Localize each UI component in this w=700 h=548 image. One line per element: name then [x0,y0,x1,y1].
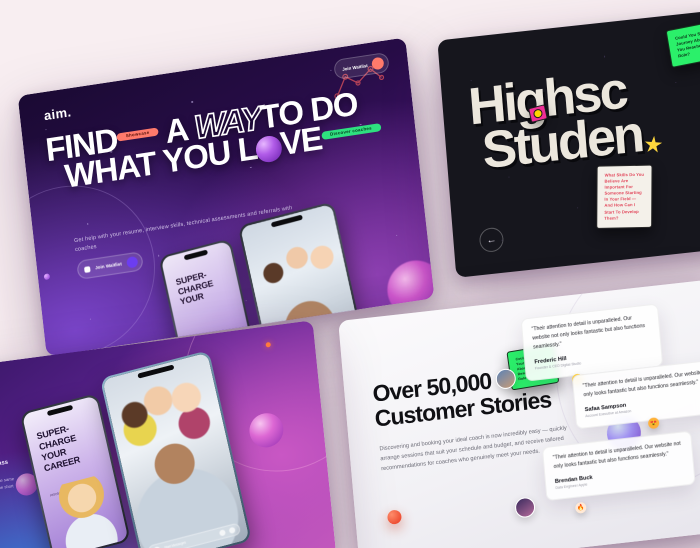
dark-headline: Highsc Studen [467,67,644,175]
showcase-stage: aim. FINDShowcase A WAYTO DO WHAT YOU LV… [0,0,700,548]
phone-screen-title: SUPER-CHARGE YOUR [175,262,238,306]
pill-badge-showcase[interactable]: Showcase [117,128,159,142]
arrow-left-icon: ← [486,234,497,246]
pill-badge-discover[interactable]: Discover coaches [321,123,381,140]
filter-icon[interactable] [228,527,235,534]
phone-notch [47,404,73,415]
reaction-emoji[interactable]: 🔥 [575,502,587,514]
hero-cta-label: Join Waitlist [95,261,122,270]
slide-customer-stories[interactable]: Over 50,000 Customer Stories Discovering… [338,280,700,548]
headline-ve: VE [278,119,323,162]
arrow-circle-icon [126,256,138,269]
testimonial-quote: "Their attention to detail is unparallel… [531,313,651,353]
smiley-face-icon [533,108,544,119]
phones-left-title: The Job Class [0,460,8,471]
info-icon[interactable] [219,530,226,537]
phone-screen-title: SUPER-CHARGE YOUR CAREER [36,416,106,474]
badge-dot-icon [371,57,384,71]
avatar [514,496,536,518]
phone-notch [184,249,208,260]
slide-app-phones[interactable]: The Job Class will suit career the same … [0,320,336,548]
slide-highschool-students[interactable]: Highsc Studen Could You Share Your Journ… [437,8,700,278]
red-dot-decoration [387,509,402,525]
badge-label: Join Waitlist [342,63,368,72]
sticky-note-question-skills[interactable]: What Skills Do You Believe Are Important… [596,165,652,229]
slide-hero-landing[interactable]: aim. FINDShowcase A WAYTO DO WHAT YOU LV… [18,37,435,356]
sparkle-icon [84,266,91,273]
illustrated-avatar [43,472,128,548]
